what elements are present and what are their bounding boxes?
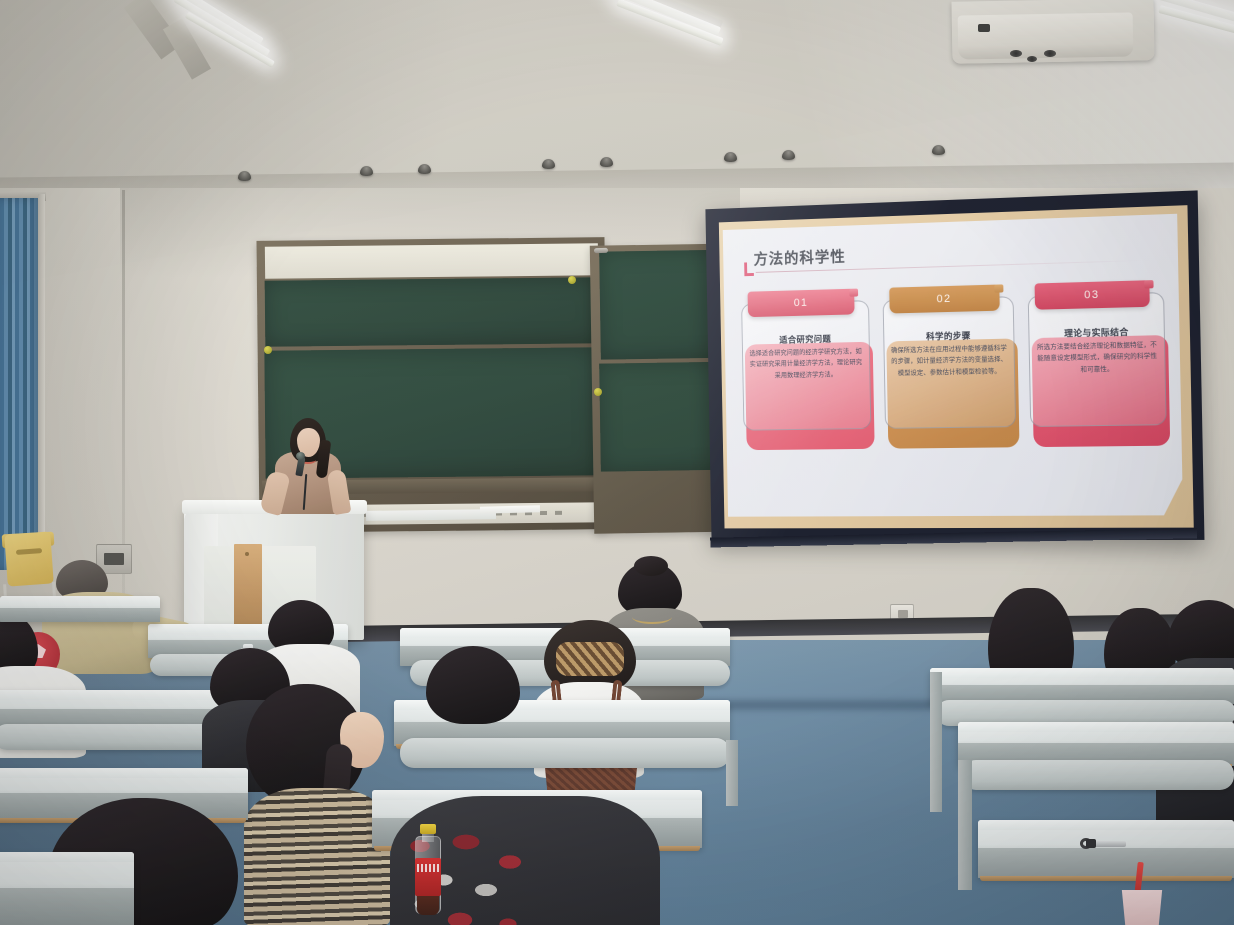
blackboard-white-strip bbox=[265, 243, 598, 278]
projector-lens-icon bbox=[1010, 50, 1022, 57]
card-body-text: 确保所选方法在应用过程中能够遵循科学的步骤，如计量经济学方法的变量选择、模型设定… bbox=[890, 343, 1008, 380]
card-badge-tab-icon bbox=[850, 289, 859, 297]
bottle-label-text bbox=[417, 864, 439, 872]
card-number: 02 bbox=[936, 293, 951, 305]
student-desk bbox=[0, 596, 160, 622]
blackboard-knob-icon[interactable] bbox=[568, 276, 576, 284]
lectern-knob-icon[interactable] bbox=[245, 552, 249, 556]
lecture-hall-photo: 方法的科学性 01 适合研究问题 选择适合研究问题的经济学研究方法，如实证研究采… bbox=[0, 0, 1234, 925]
student-desk bbox=[930, 668, 1234, 704]
slide-card: 01 适合研究问题 选择适合研究问题的经济学研究方法，如实证研究采用计量经济学方… bbox=[741, 286, 872, 451]
slide-title: 方法的科学性 bbox=[753, 245, 846, 269]
sprinkler-head-icon bbox=[782, 150, 795, 160]
desk-edge bbox=[978, 820, 1234, 830]
card-body-text: 所选方法要结合经济理论和数据特征，不能随意设定模型形式，确保研究的科学性和可靠性… bbox=[1036, 339, 1158, 376]
chair-back[interactable] bbox=[4, 531, 54, 586]
desk-leg bbox=[726, 740, 738, 806]
card-number: 01 bbox=[794, 297, 809, 309]
blackboard-slide-handle[interactable] bbox=[594, 248, 608, 253]
desk-edge bbox=[0, 690, 240, 700]
presentation-slide: 方法的科学性 01 适合研究问题 选择适合研究问题的经济学研究方法，如实证研究采… bbox=[723, 214, 1183, 517]
sprinkler-head-icon bbox=[238, 171, 251, 181]
card-badge-tab-icon bbox=[1144, 280, 1153, 288]
desk-front-panel bbox=[978, 848, 1234, 878]
desk-side-rail bbox=[958, 760, 972, 890]
person-hair-bun bbox=[634, 556, 668, 576]
person-necklace bbox=[632, 610, 672, 624]
desk-edge bbox=[0, 596, 160, 606]
card-number-badge: 03 bbox=[1035, 280, 1150, 310]
person-torso bbox=[244, 788, 390, 925]
window-frame bbox=[38, 194, 45, 574]
desk-edge bbox=[930, 668, 1234, 678]
card-badge-tab-icon bbox=[994, 284, 1003, 292]
slide-card: 02 科学的步骤 确保所选方法在应用过程中能够遵循科学的步骤，如计量经济学方法的… bbox=[882, 282, 1017, 450]
wall-panel-slot bbox=[104, 553, 124, 565]
desk-front-panel bbox=[0, 608, 160, 622]
projector-vent bbox=[978, 24, 990, 32]
desk-edge bbox=[958, 722, 1234, 732]
bottle-cap bbox=[420, 824, 436, 834]
key-fob-icon bbox=[1086, 839, 1096, 848]
sprinkler-head-icon bbox=[724, 152, 737, 162]
student-desk bbox=[0, 852, 134, 925]
projector-lens-icon bbox=[1044, 50, 1056, 57]
sprinkler-head-icon bbox=[542, 159, 555, 169]
slide-cards-row: 01 适合研究问题 选择适合研究问题的经济学研究方法，如实证研究采用计量经济学方… bbox=[741, 278, 1167, 451]
bench-seat-back bbox=[400, 738, 730, 768]
sprinkler-head-icon bbox=[600, 157, 613, 167]
desk-side-rail bbox=[930, 672, 942, 812]
podium-side-shelf bbox=[366, 509, 496, 521]
car-keys[interactable] bbox=[1080, 838, 1128, 850]
hair-accessory bbox=[556, 642, 624, 676]
microphone-head-icon bbox=[296, 452, 305, 460]
slide-card: 03 理论与实际结合 所选方法要结合经济理论和数据特征，不能随意设定模型形式，确… bbox=[1028, 278, 1167, 448]
blackboard-knob-icon[interactable] bbox=[594, 388, 602, 396]
projector-lens-icon bbox=[1027, 56, 1037, 62]
window-curtain bbox=[0, 198, 40, 570]
sprinkler-head-icon bbox=[418, 164, 431, 174]
blackboard-knob-icon[interactable] bbox=[264, 346, 272, 354]
drink-cup[interactable] bbox=[1118, 890, 1166, 925]
blackboard-panel-upper bbox=[265, 277, 599, 346]
card-number-badge: 01 bbox=[748, 289, 855, 317]
sprinkler-head-icon bbox=[360, 166, 373, 176]
bench-seat-back bbox=[962, 760, 1234, 790]
card-number-badge: 02 bbox=[889, 285, 1000, 314]
desk-wood-trim bbox=[980, 876, 1232, 881]
sprinkler-head-icon bbox=[932, 145, 945, 155]
card-body-text: 选择适合研究问题的经济学研究方法，如实证研究采用计量经济学方法，理论研究采用数理… bbox=[749, 346, 864, 382]
card-number: 03 bbox=[1084, 289, 1100, 302]
desk-edge bbox=[0, 768, 248, 778]
desk-front-panel bbox=[0, 888, 134, 925]
desk-edge bbox=[0, 852, 134, 862]
projection-screen: 方法的科学性 01 适合研究问题 选择适合研究问题的经济学研究方法，如实证研究采… bbox=[705, 190, 1204, 540]
title-accent-mark-icon bbox=[744, 262, 754, 276]
